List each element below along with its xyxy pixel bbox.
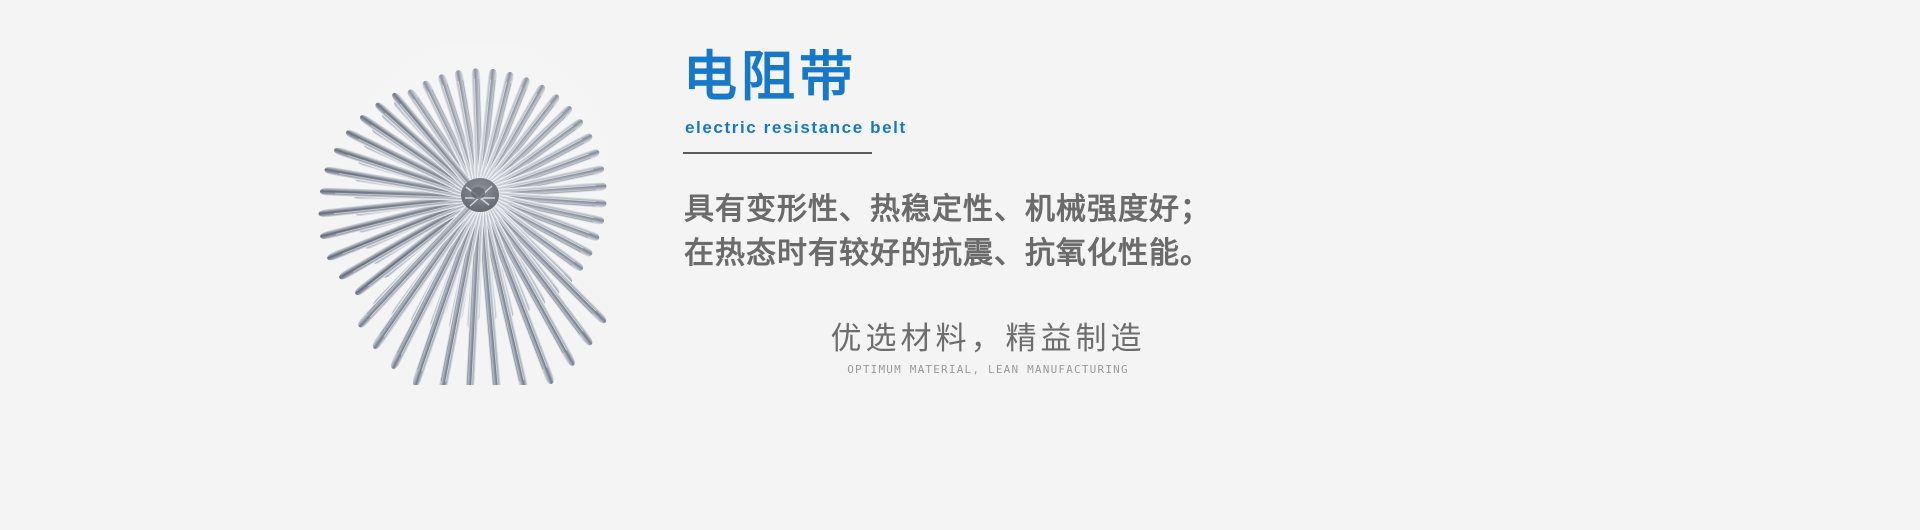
title-divider [683,152,872,154]
description-line-1: 具有变形性、热稳定性、机械强度好； [684,188,1324,232]
product-image [300,45,660,385]
slogan-chinese: 优选材料，精益制造 [778,318,1198,360]
product-description: 具有变形性、热稳定性、机械强度好； 在热态时有较好的抗震、抗氧化性能。 [684,188,1324,276]
slogan-block: 优选材料，精益制造 OPTIMUM MATERIAL, LEAN MANUFAC… [778,318,1198,377]
resistance-belt-illustration [300,45,660,385]
product-banner: 电阻带 electric resistance belt 具有变形性、热稳定性、… [0,0,1920,530]
slogan-english: OPTIMUM MATERIAL, LEAN MANUFACTURING [778,363,1198,377]
page-title: 电阻带 [683,48,857,106]
banner-text-column: 电阻带 electric resistance belt 具有变形性、热稳定性、… [683,0,1583,530]
description-line-2: 在热态时有较好的抗震、抗氧化性能。 [684,232,1324,276]
page-subtitle: electric resistance belt [685,117,907,139]
